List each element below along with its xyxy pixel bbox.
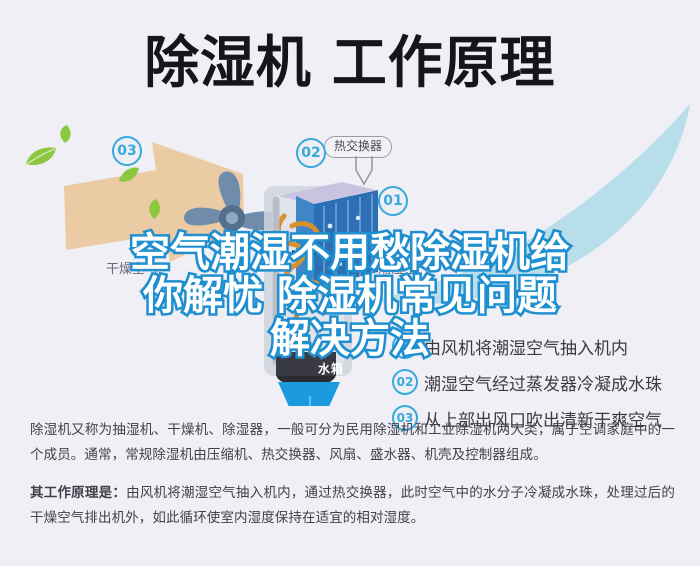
page-title-text: 除湿机 工作原理 — [144, 36, 555, 92]
page-root: 除湿机 工作原理 — [0, 0, 700, 566]
legend-item: 01 由风机将潮湿空气抽入机内 — [392, 328, 692, 364]
body-paragraph-2-prefix: 其工作原理是： — [30, 485, 126, 501]
moist-air-label: 潮湿空气 — [378, 258, 430, 277]
leaf-icon — [146, 198, 164, 220]
body-paragraph-1: 除湿机又称为抽湿机、干燥机、除湿器，一般可分为民用除湿机和工业除湿机两大类，属于… — [30, 418, 675, 468]
legend-item: 02 潮湿空气经过蒸发器冷凝成水珠 — [392, 364, 692, 400]
article-body: 除湿机又称为抽湿机、干燥机、除湿器，一般可分为民用除湿机和工业除湿机两大类，属于… — [30, 418, 675, 531]
badge-01: 01 — [378, 186, 408, 216]
legend-number: 01 — [392, 333, 418, 359]
heat-exchanger-callout: 热交换器 — [324, 136, 392, 158]
leaf-icon — [118, 166, 140, 184]
page-title: 除湿机 工作原理 — [0, 18, 700, 110]
dehumidifier-diagram: 热交换器 01 02 03 干燥空气 潮湿空气 水箱 01 由风机将潮湿空气抽入… — [0, 108, 700, 408]
callout-pointer-icon — [350, 156, 376, 186]
badge-03: 03 — [112, 136, 142, 166]
legend-label: 由风机将潮湿空气抽入机内 — [424, 334, 628, 359]
badge-02: 02 — [296, 138, 326, 168]
moist-air-swoosh-icon — [360, 104, 700, 314]
legend-number: 02 — [392, 369, 418, 395]
body-paragraph-2-rest: 由风机将潮湿空气抽入机内，通过热交换器，此时空气中的水分子冷凝成水珠，处理过后的… — [30, 485, 675, 526]
leaf-icon — [24, 146, 58, 168]
dry-air-label: 干燥空气 — [106, 258, 158, 277]
body-paragraph-2: 其工作原理是：由风机将潮湿空气抽入机内，通过热交换器，此时空气中的水分子冷凝成水… — [30, 481, 675, 531]
leaf-icon — [56, 124, 74, 144]
water-tank-label: 水箱 — [318, 360, 344, 377]
legend-label: 潮湿空气经过蒸发器冷凝成水珠 — [424, 370, 662, 395]
